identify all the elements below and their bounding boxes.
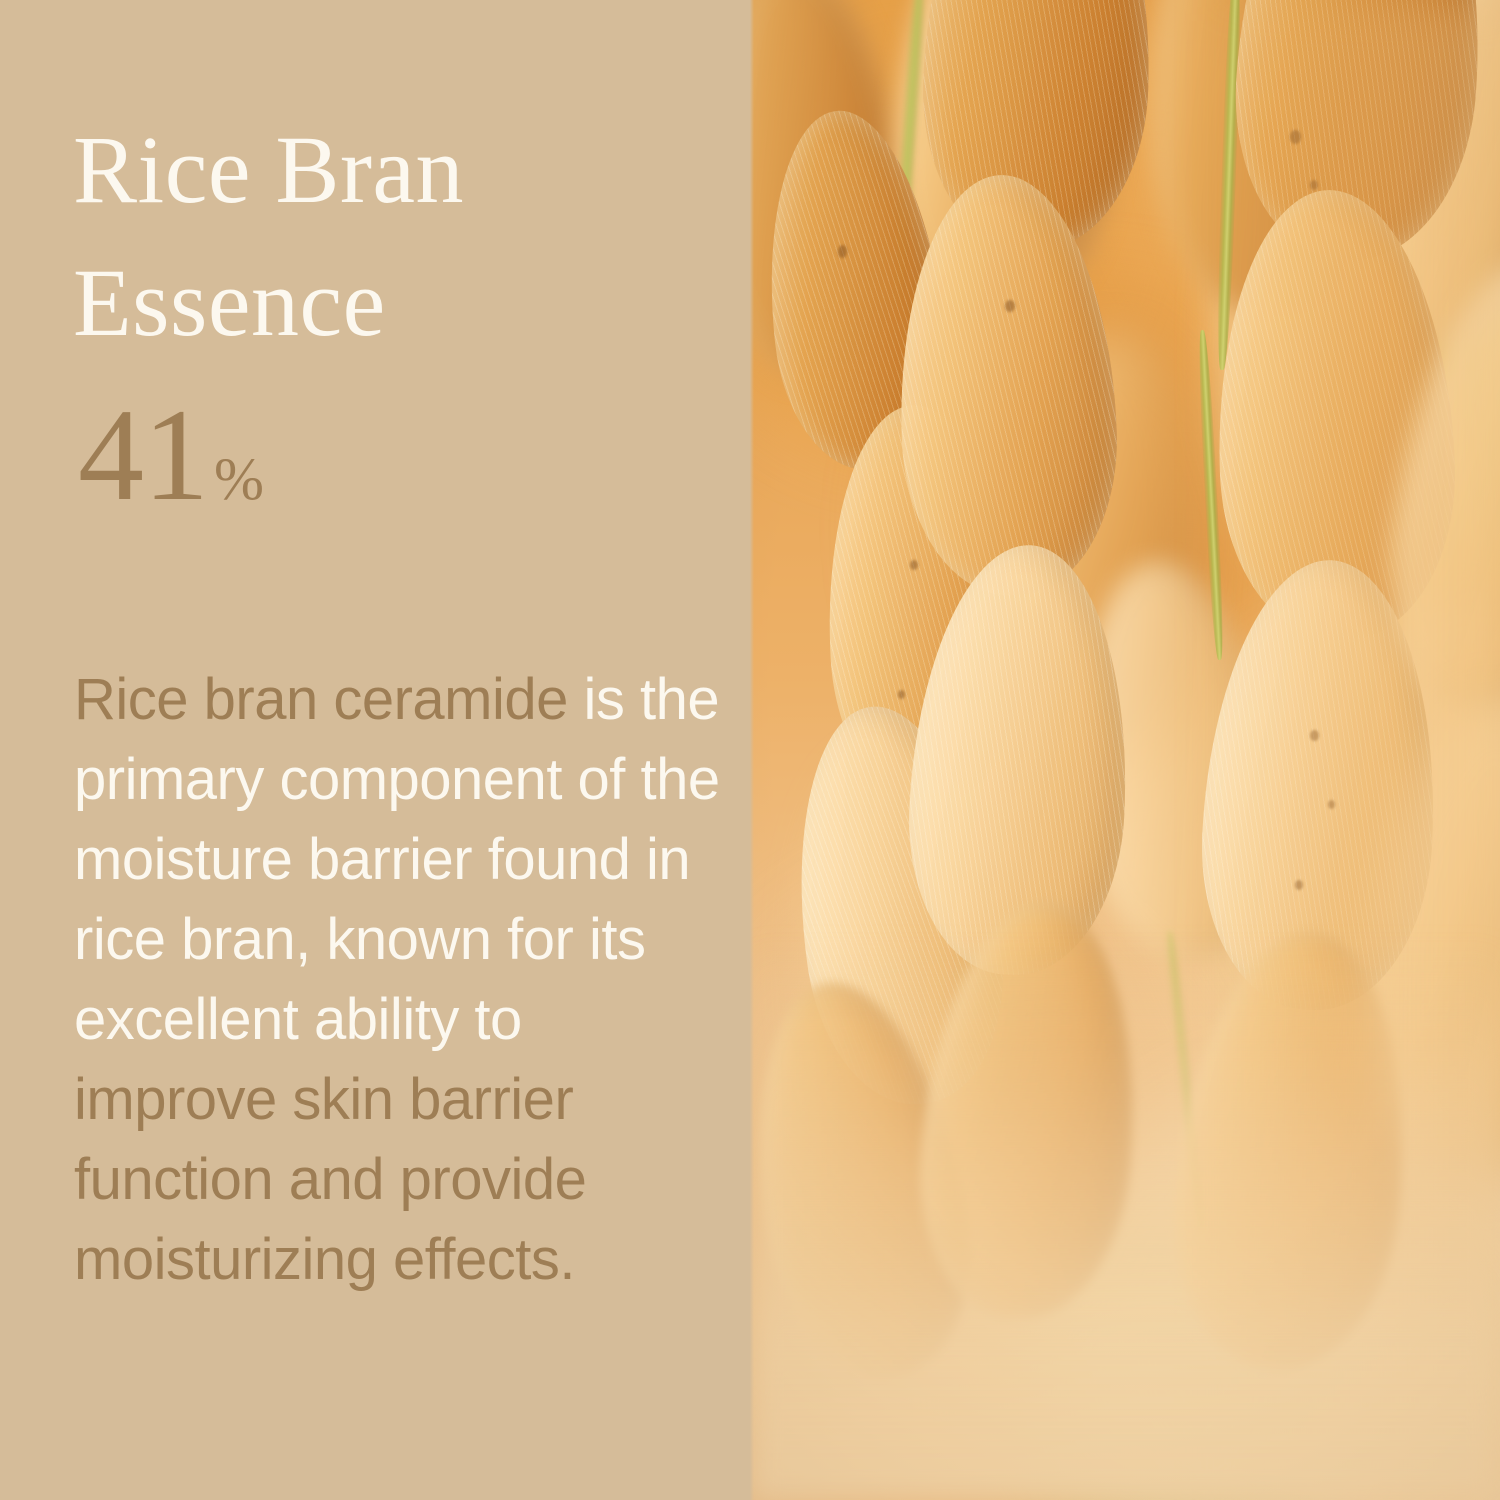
description-segment-2: improve skin barrier function and provid… bbox=[74, 1067, 586, 1292]
grain-speck bbox=[838, 245, 847, 258]
ingredient-description: Rice bran ceramide is the primary compon… bbox=[74, 660, 729, 1300]
description-segment-0: Rice bran ceramide bbox=[74, 667, 584, 732]
grain-speck bbox=[1295, 880, 1303, 890]
grain-speck bbox=[1005, 300, 1015, 312]
grain-speck bbox=[1310, 730, 1319, 741]
page-title: Rice Bran Essence bbox=[73, 103, 713, 369]
text-panel: Rice Bran Essence 41 % Rice bran ceramid… bbox=[0, 0, 750, 1500]
rice-macro-photo bbox=[750, 0, 1500, 1500]
grain-speck bbox=[898, 690, 905, 699]
grain-speck bbox=[1290, 130, 1301, 144]
product-ingredient-card: Rice Bran Essence 41 % Rice bran ceramid… bbox=[0, 0, 1500, 1500]
percent-symbol: % bbox=[214, 420, 264, 538]
grain-speck bbox=[1328, 800, 1335, 809]
grain-speck bbox=[1310, 180, 1318, 190]
concentration-badge: 41 % bbox=[78, 396, 264, 538]
concentration-value: 41 bbox=[78, 396, 208, 514]
grain-speck bbox=[910, 560, 918, 570]
